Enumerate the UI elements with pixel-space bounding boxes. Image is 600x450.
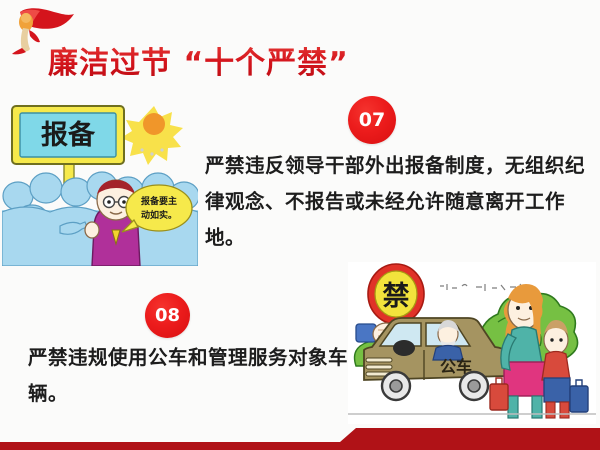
baobei-signboard-crowd-illustration: 报备	[2, 88, 198, 266]
prohibition-sign-text: 禁	[383, 281, 410, 312]
signboard-text: 报备	[41, 120, 96, 151]
red-angled-footer-bar	[0, 428, 600, 450]
official-car-prohibition-illustration: 禁	[348, 262, 596, 424]
svg-text:动如实。: 动如实。	[141, 209, 177, 221]
item-text-08: 严禁违规使用公车和管理服务对象车辆。	[28, 340, 358, 412]
page-title: 廉洁过节 “十个严禁”	[48, 38, 349, 82]
item-number-badge-08: 08	[145, 293, 190, 338]
slide-root: 廉洁过节 “十个严禁” 07 严禁违反领导干部外出报备制度，无组织纪律观念、不报…	[0, 0, 600, 450]
item-text-07: 严禁违反领导干部外出报备制度，无组织纪律观念、不报告或未经允许随意离开工作地。	[205, 148, 595, 256]
svg-text:报备要主: 报备要主	[141, 195, 177, 207]
sun-icon	[121, 106, 183, 165]
item-number-badge-07: 07	[348, 96, 396, 144]
